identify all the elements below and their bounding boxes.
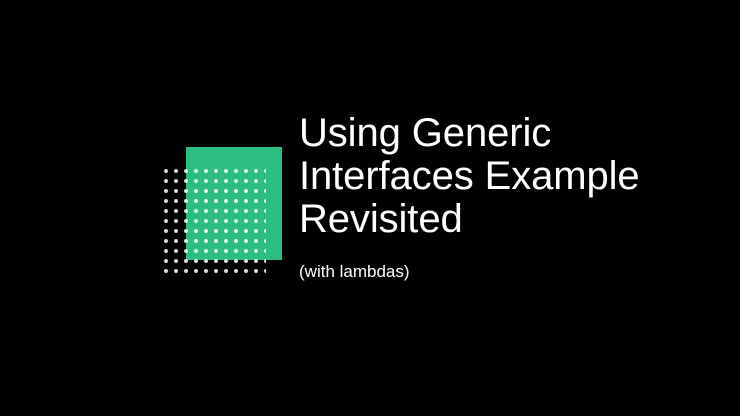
slide-canvas: Using Generic Interfaces Example Revisit…	[0, 0, 740, 416]
dot-grid-pattern-icon	[164, 169, 266, 277]
decorative-graphic	[160, 140, 290, 285]
page-subtitle: (with lambdas)	[299, 261, 719, 283]
title-text-block: Using Generic Interfaces Example Revisit…	[299, 112, 719, 283]
page-title: Using Generic Interfaces Example Revisit…	[299, 112, 719, 241]
